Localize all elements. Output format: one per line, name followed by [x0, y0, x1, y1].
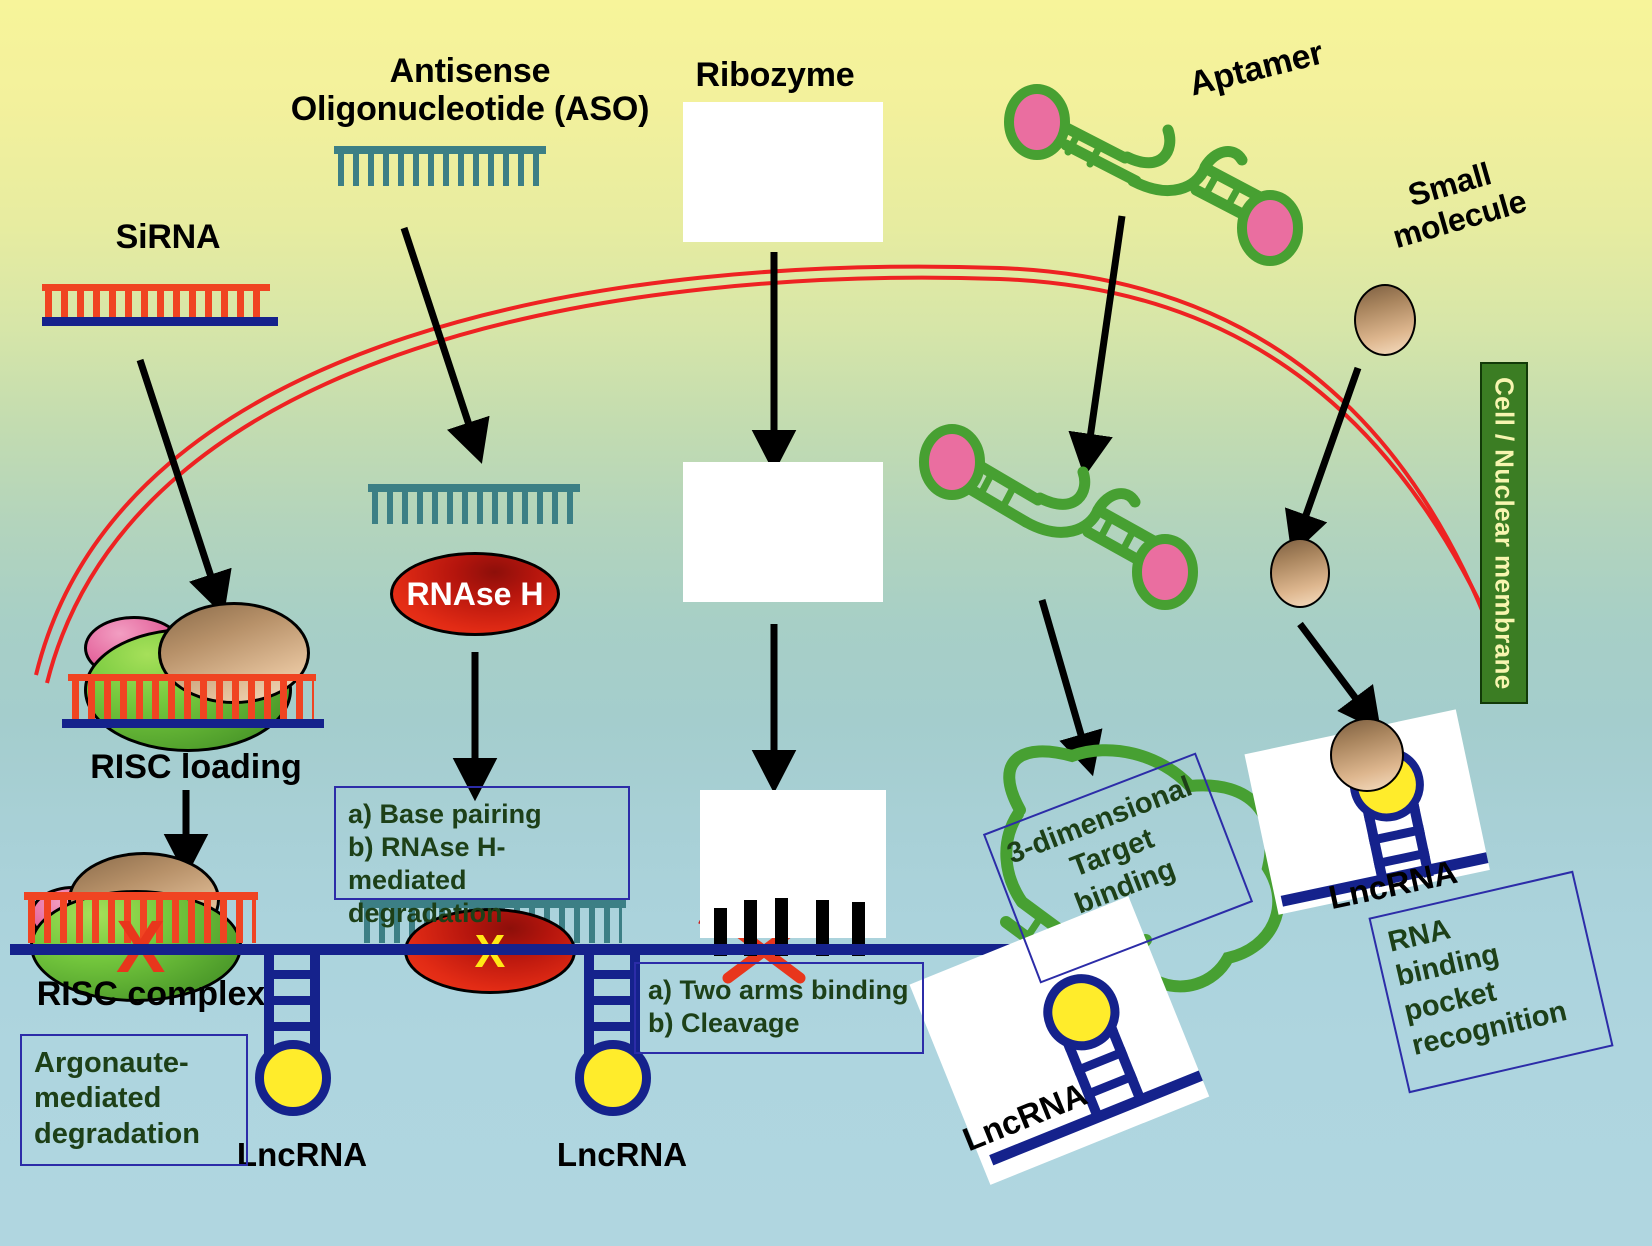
- lncrna-stemloop-1: [252, 948, 342, 1128]
- lncrna-1-rung: [264, 1022, 320, 1031]
- aso-bases: [338, 153, 542, 186]
- lncrna-1-loop: [255, 1040, 331, 1116]
- callout-ribozyme-mechanism: a) Two arms binding b) Cleavage: [634, 962, 924, 1054]
- small-molecule-title: Small molecule: [1368, 146, 1542, 259]
- aptamer-inside: [924, 429, 1193, 605]
- aso-oligo-outside: [334, 146, 546, 186]
- arrow-smallmol-entry: [1300, 368, 1358, 532]
- sirna-duplex: [42, 284, 270, 326]
- arrow-smallmol-to-target: [1300, 624, 1366, 712]
- ribozyme-panel-outside: [683, 102, 883, 242]
- risc-loaded-sirna-bottom: [62, 719, 324, 728]
- lncrna-2-rung: [584, 1022, 640, 1031]
- membrane-label: Cell / Nuclear membrane: [1480, 362, 1528, 704]
- sirna-base-pairs: [45, 290, 267, 320]
- arrow-sirna-to-risc: [140, 360, 216, 592]
- lncrna-1-rung: [264, 970, 320, 979]
- sirna-title: SiRNA: [38, 218, 298, 256]
- risc-loading-label: RISC loading: [46, 748, 346, 787]
- small-molecule-inside: [1270, 538, 1330, 608]
- small-molecule-bound: [1330, 718, 1404, 792]
- lncrna-label-2: LncRNA: [542, 1136, 702, 1174]
- arrow-aso-entry: [404, 228, 474, 440]
- arrow-aptamer-to-target: [1042, 600, 1086, 752]
- lncrna-1-rung: [264, 996, 320, 1005]
- aso-title: Antisense Oligonucleotide (ASO): [280, 52, 660, 128]
- arrow-aptamer-entry: [1088, 216, 1122, 452]
- aso-oligo-inside: [368, 484, 580, 524]
- lncrna-2-rung: [584, 996, 640, 1005]
- ribozyme-panel-inside: [683, 462, 883, 602]
- risc-loading-complex: [48, 600, 348, 760]
- ribozyme-title: Ribozyme: [650, 56, 900, 94]
- aptamer-outside: [1009, 89, 1298, 261]
- risc-loaded-sirna-pairs: [72, 680, 314, 722]
- figure-canvas: SiRNA Antisense Oligonucleotide (ASO) Ri…: [0, 0, 1652, 1246]
- small-molecule-outside: [1354, 284, 1416, 356]
- rnase-h-enzyme: RNAse H: [390, 552, 560, 636]
- lncrna-2-rung: [584, 970, 640, 979]
- target-rna-backbone: [10, 944, 1030, 955]
- callout-argonaute: Argonaute- mediated degradation: [20, 1034, 248, 1166]
- aso-bases-inside: [372, 491, 576, 524]
- aptamer-title: Aptamer: [1140, 22, 1372, 115]
- sirna-bottom-strand: [42, 317, 278, 326]
- callout-aso-mechanism: a) Base pairing b) RNAse H-mediated degr…: [334, 786, 630, 900]
- callout-small-molecule-mechanism: RNA binding pocket recognition: [1368, 871, 1613, 1094]
